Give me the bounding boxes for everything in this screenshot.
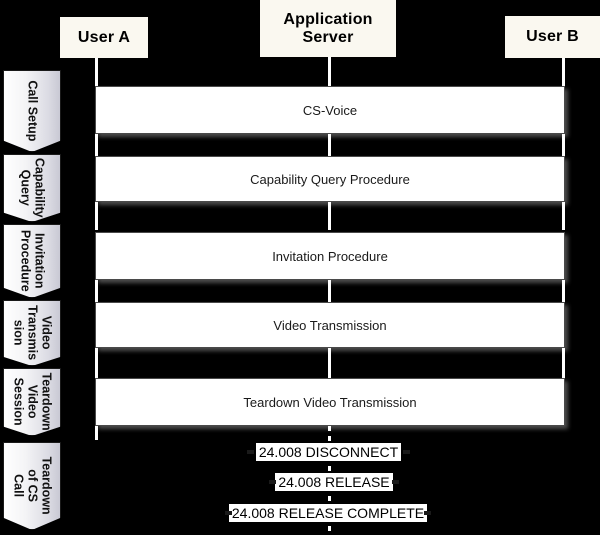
phase-call-setup: Call Setup: [3, 70, 61, 152]
message-disconnect-label: 24.008 DISCONNECT: [256, 443, 401, 461]
phase-video-transmission: Video Transmis sion: [3, 300, 61, 366]
lifeline-user-b-segment-4: [562, 280, 565, 302]
activity-teardown-video-transmission-label: Teardown Video Transmission: [243, 395, 416, 410]
phase-capability-query: Capability Query: [3, 154, 61, 222]
message-release-tick-left: [269, 480, 276, 484]
activity-video-transmission: Video Transmission: [95, 302, 565, 348]
message-release: 24.008 RELEASE: [272, 471, 396, 493]
lifeline-app-server-segment-2: [328, 134, 331, 158]
message-release-complete-label: 24.008 RELEASE COMPLETE: [229, 504, 427, 522]
message-disconnect-tick-right: [403, 450, 410, 454]
participant-user-b: User B: [505, 16, 600, 58]
phase-teardown-video-session-label: Teardown Video Session: [11, 373, 52, 431]
phase-teardown-video-session: Teardown Video Session: [3, 368, 61, 436]
activity-cs-voice-label: CS-Voice: [303, 103, 357, 118]
sequence-diagram: User A ApplicationServer User B Call Set…: [0, 0, 600, 535]
lifeline-user-a-segment-2: [95, 134, 98, 158]
message-release-tick-right: [392, 480, 399, 484]
message-release-complete-tick-left: [225, 511, 232, 515]
activity-capability-query-procedure-label: Capability Query Procedure: [250, 172, 410, 187]
activity-invitation-procedure-label: Invitation Procedure: [272, 249, 388, 264]
lifeline-user-b-segment-5: [562, 348, 565, 378]
lifeline-app-server-segment-3: [328, 202, 331, 230]
lifeline-app-server-segment-4: [328, 280, 331, 302]
phase-column: Call Setup Capability Query Invitation P…: [3, 70, 63, 532]
message-release-complete-tick-right: [424, 511, 431, 515]
activity-cs-voice: CS-Voice: [95, 86, 565, 134]
lifeline-user-a-segment-4: [95, 280, 98, 302]
lifeline-user-a-segment-6: [95, 426, 98, 440]
participant-user-a: User A: [60, 17, 148, 58]
phase-call-setup-label: Call Setup: [25, 80, 39, 141]
phase-video-transmission-label: Video Transmis sion: [11, 305, 52, 361]
phase-invitation-procedure-label: Invitation Procedure: [18, 230, 46, 292]
activity-teardown-video-transmission: Teardown Video Transmission: [95, 378, 565, 426]
lifeline-app-server-segment-1: [328, 57, 331, 88]
lifeline-app-server-segment-5: [328, 348, 331, 378]
phase-teardown-cs-call: Teardown of CS Call: [3, 442, 61, 530]
participant-user-a-label: User A: [78, 29, 130, 47]
lifeline-user-a-segment-1: [95, 58, 98, 88]
activity-video-transmission-label: Video Transmission: [273, 318, 386, 333]
lifeline-user-a-segment-3: [95, 202, 98, 230]
participant-application-server-label: ApplicationServer: [283, 11, 372, 47]
lifeline-user-b-segment-3: [562, 202, 565, 230]
message-disconnect: 24.008 DISCONNECT: [250, 441, 407, 463]
lifeline-user-a-segment-5: [95, 348, 98, 378]
participant-application-server: ApplicationServer: [260, 0, 396, 57]
participant-user-b-label: User B: [526, 28, 579, 46]
message-release-label: 24.008 RELEASE: [275, 473, 392, 491]
activity-capability-query-procedure: Capability Query Procedure: [95, 156, 565, 202]
lifeline-user-b-segment-1: [562, 58, 565, 88]
lifeline-user-b-segment-2: [562, 134, 565, 158]
phase-teardown-cs-call-label: Teardown of CS Call: [11, 457, 52, 515]
message-release-complete: 24.008 RELEASE COMPLETE: [228, 502, 428, 524]
activity-invitation-procedure: Invitation Procedure: [95, 232, 565, 280]
phase-invitation-procedure: Invitation Procedure: [3, 224, 61, 298]
phase-capability-query-label: Capability Query: [18, 158, 46, 218]
message-disconnect-tick-left: [247, 450, 254, 454]
